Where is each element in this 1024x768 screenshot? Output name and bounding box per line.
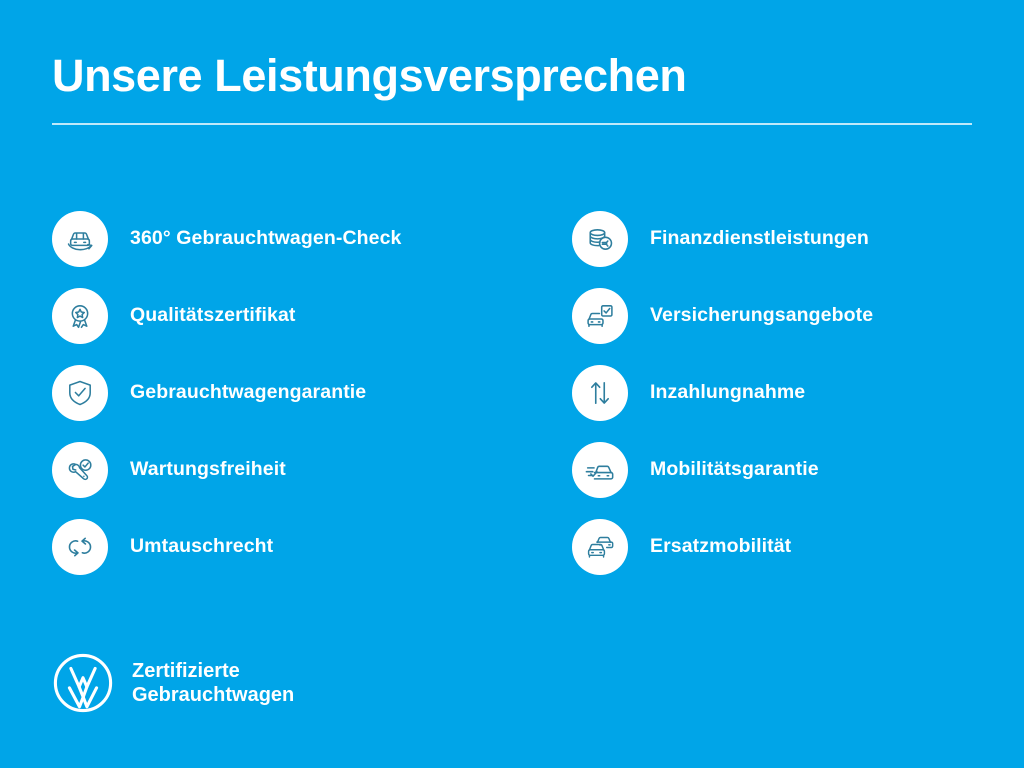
promise-label: Gebrauchtwagengarantie (130, 381, 366, 404)
promise-grid: 360° Gebrauchtwagen-Check Finanzdienstle… (52, 200, 972, 585)
brand-line-2: Gebrauchtwagen (132, 683, 294, 707)
promise-label: Finanzdienstleistungen (650, 227, 869, 250)
car-document-check-icon (572, 288, 628, 344)
title-divider (52, 123, 972, 125)
promise-label: Wartungsfreiheit (130, 458, 286, 481)
promises-slide: Unsere Leistungsversprechen 360° Gebrauc… (0, 0, 1024, 768)
promise-label: 360° Gebrauchtwagen-Check (130, 227, 401, 250)
promise-item-ersatzmobilitaet[interactable]: Ersatzmobilität (572, 508, 972, 585)
page-title: Unsere Leistungsversprechen (52, 52, 972, 101)
promise-item-360-check[interactable]: 360° Gebrauchtwagen-Check (52, 200, 572, 277)
promise-label: Umtauschrecht (130, 535, 273, 558)
header: Unsere Leistungsversprechen (52, 52, 972, 125)
promise-label: Versicherungsangebote (650, 304, 873, 327)
up-down-arrows-icon (572, 365, 628, 421)
promise-label: Inzahlungnahme (650, 381, 805, 404)
brand-text: Zertifizierte Gebrauchtwagen (132, 659, 294, 708)
car-motion-icon (572, 442, 628, 498)
promise-item-finanzdienstleistungen[interactable]: Finanzdienstleistungen (572, 200, 972, 277)
vw-logo-icon (52, 652, 114, 714)
award-rosette-icon (52, 288, 108, 344)
promise-item-gebrauchtwagengarantie[interactable]: Gebrauchtwagengarantie (52, 354, 572, 431)
promise-item-inzahlungnahme[interactable]: Inzahlungnahme (572, 354, 972, 431)
brand-footer: Zertifizierte Gebrauchtwagen (52, 652, 294, 714)
shield-check-icon (52, 365, 108, 421)
promise-item-mobilitaetsgarantie[interactable]: Mobilitätsgarantie (572, 431, 972, 508)
exchange-arrows-icon (52, 519, 108, 575)
coins-euro-icon (572, 211, 628, 267)
two-cars-icon (572, 519, 628, 575)
promise-label: Qualitätszertifikat (130, 304, 296, 327)
promise-item-qualitaetszertifikat[interactable]: Qualitätszertifikat (52, 277, 572, 354)
wrench-check-icon (52, 442, 108, 498)
car-360-check-icon (52, 211, 108, 267)
promise-item-wartungsfreiheit[interactable]: Wartungsfreiheit (52, 431, 572, 508)
brand-line-1: Zertifizierte (132, 659, 294, 683)
promise-label: Mobilitätsgarantie (650, 458, 819, 481)
promise-item-umtauschrecht[interactable]: Umtauschrecht (52, 508, 572, 585)
promise-label: Ersatzmobilität (650, 535, 791, 558)
promise-item-versicherungsangebote[interactable]: Versicherungsangebote (572, 277, 972, 354)
